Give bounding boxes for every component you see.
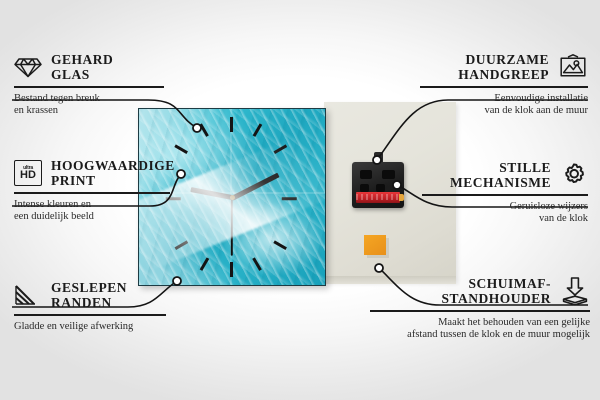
movement-port-4 — [376, 184, 385, 192]
diamond-icon — [14, 55, 42, 79]
feature-schuimafstandhouder: SCHUIMAF- STANDHOUDER Maakt het behouden… — [370, 276, 590, 342]
feature-header: SCHUIMAF- STANDHOUDER — [370, 276, 590, 306]
feature-desc-line1: Bestand tegen breuk — [14, 93, 164, 106]
aa-battery — [356, 192, 400, 203]
minute-hand — [231, 173, 279, 201]
hour-tick — [230, 262, 233, 277]
infographic-canvas: GEHARD GLAS Bestand tegen breuk en krass… — [0, 0, 600, 400]
feature-rule — [14, 192, 170, 194]
product-image — [138, 100, 458, 286]
feature-header: ultra HD HOOGWAARDIGE PRINT — [14, 158, 170, 188]
feature-rule — [422, 194, 588, 196]
feature-desc-line1: Intense kleuren en — [14, 199, 170, 212]
feature-geslepen-randen: GESLEPEN RANDEN Gladde en veilige afwerk… — [14, 280, 166, 333]
feature-title-line1: GESLEPEN — [51, 280, 127, 295]
clock-hub — [230, 195, 235, 200]
beveled-edges-icon — [14, 283, 42, 307]
feature-rule — [14, 86, 164, 88]
movement-port-2 — [382, 170, 395, 179]
movement-port-1 — [360, 170, 372, 179]
feature-rule — [420, 86, 588, 88]
feature-title-line1: DUURZAME — [458, 52, 549, 67]
feature-header: GEHARD GLAS — [14, 52, 164, 82]
feature-header: STILLE MECHANISME — [422, 160, 588, 190]
feature-header: GESLEPEN RANDEN — [14, 280, 166, 310]
battery-positive-cap — [399, 194, 404, 201]
feature-header: DUURZAME HANDGREEP — [420, 52, 588, 82]
feature-title-line1: HOOGWAARDIGE — [51, 158, 175, 173]
ultra-hd-icon-main: HD — [20, 170, 36, 181]
feature-stille-mechanisme: STILLE MECHANISME Geruisloze wijzers van… — [422, 160, 588, 226]
feature-title-line2: STANDHOUDER — [441, 291, 551, 306]
picture-hanger-icon — [558, 54, 588, 80]
feature-title-line1: STILLE — [450, 160, 551, 175]
gear-icon — [560, 162, 588, 188]
feature-title-line1: SCHUIMAF- — [441, 276, 551, 291]
feature-desc-line2: afstand tussen de klok en de muur mogeli… — [370, 329, 590, 342]
ultra-hd-icon: ultra HD — [14, 160, 42, 186]
hour-hand — [190, 187, 232, 200]
feature-desc-line1: Gladde en veilige afwerking — [14, 321, 166, 334]
feature-desc-line1: Maakt het behouden van een gelijke — [370, 317, 590, 330]
feature-rule — [370, 310, 590, 312]
foam-spacer — [364, 235, 386, 255]
hour-tick — [274, 144, 287, 153]
feature-gehard-glas: GEHARD GLAS Bestand tegen breuk en krass… — [14, 52, 164, 118]
hour-tick — [282, 197, 297, 200]
feature-desc-line1: Geruisloze wijzers — [422, 201, 588, 214]
feature-title-line2: HANDGREEP — [458, 67, 549, 82]
hour-tick — [230, 117, 233, 132]
feature-desc-line2: een duidelijk beeld — [14, 211, 170, 224]
feature-rule — [14, 314, 166, 316]
spacer-press-icon — [560, 276, 590, 306]
feature-title-line2: MECHANISME — [450, 175, 551, 190]
feature-hoogwaardige-print: ultra HD HOOGWAARDIGE PRINT Intense kleu… — [14, 158, 170, 224]
feature-desc-line2: van de klok aan de muur — [420, 105, 588, 118]
feature-title-line2: RANDEN — [51, 295, 127, 310]
hour-tick — [175, 240, 188, 249]
second-hand — [231, 198, 233, 256]
feature-duurzame-handgreep: DUURZAME HANDGREEP Eenvoudige installati… — [420, 52, 588, 118]
feature-title-line2: GLAS — [51, 67, 113, 82]
feature-desc-line1: Eenvoudige installatie — [420, 93, 588, 106]
battery-label — [356, 194, 400, 200]
feature-title-line1: GEHARD — [51, 52, 113, 67]
feature-desc-line2: en krassen — [14, 105, 164, 118]
feature-desc-line2: van de klok — [422, 213, 588, 226]
feature-title-line2: PRINT — [51, 173, 175, 188]
movement-port-3 — [360, 184, 369, 192]
